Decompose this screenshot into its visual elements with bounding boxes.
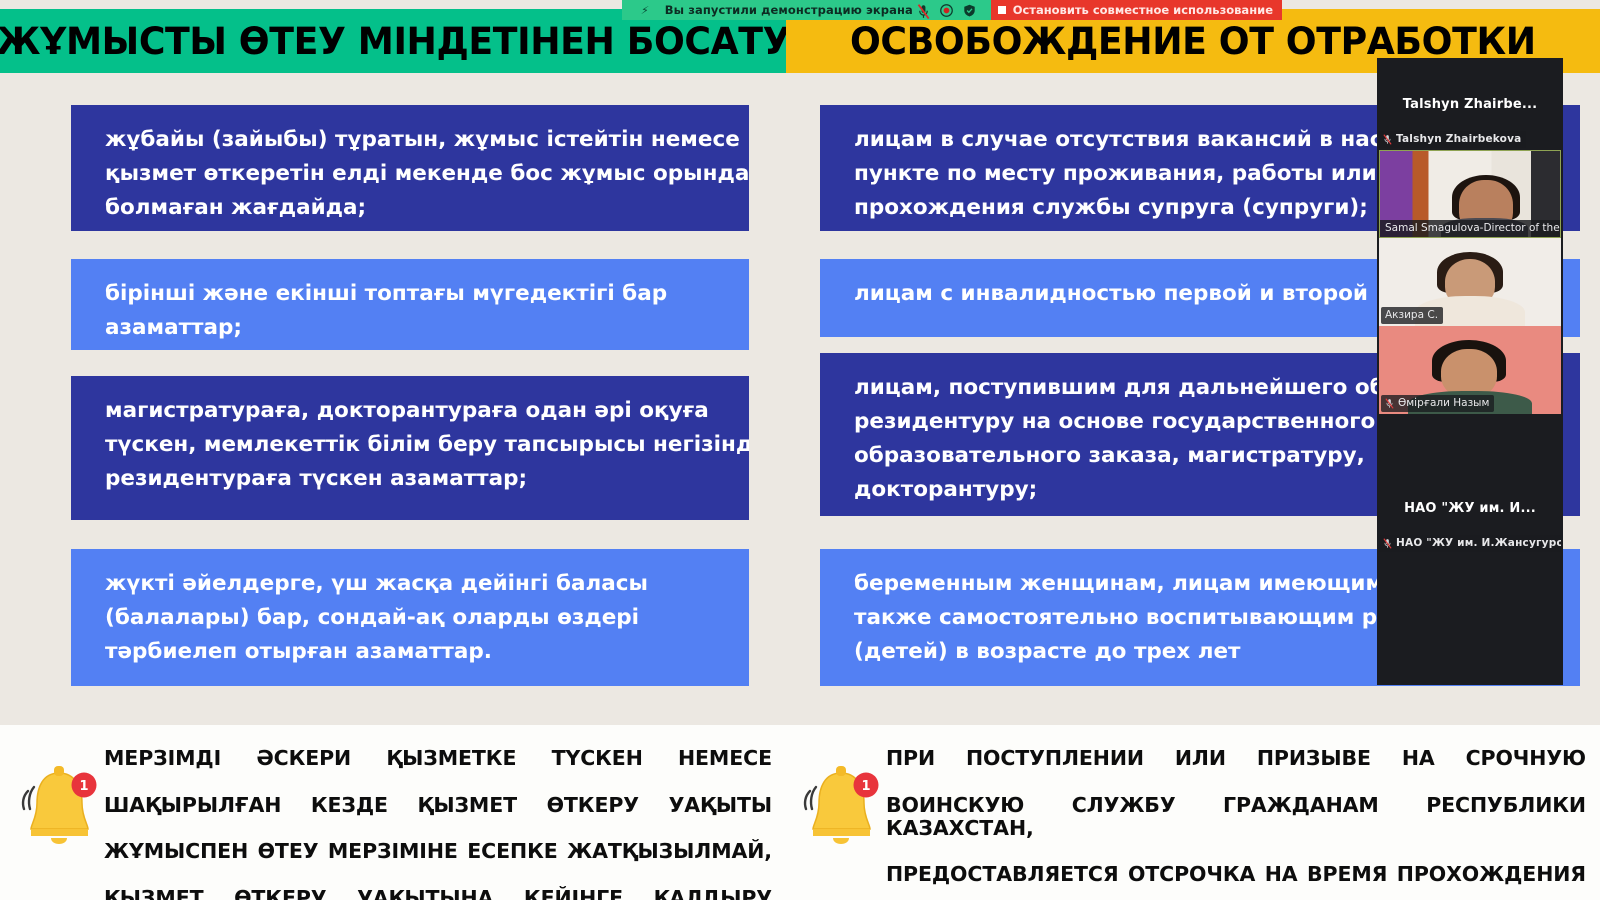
participant-tile-nao[interactable]: НАО "ЖУ им. И... НАО "ЖУ им. И.Жансугуро… (1377, 462, 1563, 554)
kazakh-card-3: магистратураға, докторантураға одан әрі … (71, 376, 749, 520)
participant-tile-video-samal[interactable]: Samal Smagulova-Director of the C... (1379, 150, 1561, 238)
participant-name: НАО "ЖУ им. И.Жансугурова" (1396, 537, 1561, 549)
stop-sharing-button[interactable]: Остановить совместное использование (991, 0, 1282, 20)
footer-note-kazakh-text: МЕРЗІМДІ ӘСКЕРИ ҚЫЗМЕТКЕ ТҮСКЕН НЕМЕСЕ Ш… (104, 747, 772, 900)
screenshare-toolbar[interactable]: ⚡ Вы запустили демонстрацию экрана (622, 0, 1282, 20)
card-line: магистратураға, докторантураға одан әрі … (105, 394, 721, 428)
card-line: жұбайы (зайыбы) тұратын, жұмыс істейтін … (105, 123, 721, 157)
active-speaker-name: Talshyn Zhairbe... (1403, 97, 1538, 112)
bell-badge-count: 1 (79, 779, 88, 794)
screenshare-status-bar: ⚡ Вы запустили демонстрацию экрана (622, 0, 991, 20)
mic-muted-icon[interactable] (917, 4, 930, 17)
note-line: МЕРЗІМДІ ӘСКЕРИ ҚЫЗМЕТКЕ ТҮСКЕН НЕМЕСЕ (104, 747, 772, 794)
kazakh-card-4: жүкті әйелдерге, үш жасқа дейінгі баласы… (71, 549, 749, 686)
card-line: азаматтар; (105, 311, 721, 345)
stop-square-icon (998, 6, 1006, 14)
participant-label: Өмірғали Назым (1381, 395, 1494, 412)
card-line: түскен, мемлекеттік білім беру тапсырысы… (105, 428, 721, 462)
bell-notification-icon: 1 (800, 759, 886, 855)
participant-display-name: НАО "ЖУ им. И... (1404, 501, 1536, 516)
participant-tile-video-omirgali[interactable]: Өмірғали Назым (1379, 326, 1561, 414)
card-line: қызмет өткеретін елді мекенде бос жұмыс … (105, 157, 721, 191)
participant-label: Talshyn Zhairbekova (1379, 131, 1526, 148)
bell-badge-count: 1 (861, 779, 870, 794)
screenshare-icon-group[interactable] (917, 4, 984, 17)
participant-tile-active-speaker[interactable]: Talshyn Zhairbe... Talshyn Zhairbekova (1377, 58, 1563, 150)
mic-muted-icon (1383, 538, 1392, 549)
card-line: жүкті әйелдерге, үш жасқа дейінгі баласы (105, 567, 721, 601)
panel-spacer (1377, 414, 1563, 462)
mic-muted-icon (1383, 134, 1392, 145)
kazakh-card-1: жұбайы (зайыбы) тұратын, жұмыс істейтін … (71, 105, 749, 231)
mic-muted-icon (1385, 398, 1394, 409)
card-line: бірінші және екінші топтағы мүгедектігі … (105, 277, 721, 311)
stop-sharing-label: Остановить совместное использование (1013, 3, 1273, 17)
screenshare-status-text: Вы запустили демонстрацию экрана (665, 3, 913, 17)
security-shield-icon[interactable] (963, 4, 976, 17)
participant-name: Samal Smagulova-Director of the C... (1380, 220, 1560, 237)
card-line: тәрбиелеп отырған азаматтар. (105, 635, 721, 669)
card-line: болмаған жағдайда; (105, 191, 721, 225)
footer-note-kazakh: 1 МЕРЗІМДІ ӘСКЕРИ ҚЫЗМЕТКЕ ТҮСКЕН НЕМЕСЕ… (18, 747, 786, 900)
footer-note-russian: 1 ПРИ ПОСТУПЛЕНИИ ИЛИ ПРИЗЫВЕ НА СРОЧНУЮ… (800, 747, 1590, 900)
card-line: резидентураға түскен азаматтар; (105, 462, 721, 496)
slide-header-kazakh-text: ЖҰМЫСТЫ ӨТЕУ МІНДЕТІНЕН БОСАТУ (0, 20, 786, 63)
card-line: (балалары) бар, сондай-ақ оларды өздері (105, 601, 721, 635)
note-line: ПРЕДОСТАВЛЯЕТСЯ ОТСРОЧКА НА ВРЕМЯ ПРОХОЖ… (886, 863, 1586, 900)
note-line: ПРИ ПОСТУПЛЕНИИ ИЛИ ПРИЗЫВЕ НА СРОЧНУЮ (886, 747, 1586, 794)
zoom-participant-panel[interactable]: Talshyn Zhairbe... Talshyn Zhairbekova S… (1377, 58, 1563, 685)
panel-spacer (1377, 554, 1563, 614)
note-line: ЖҰМЫСПЕН ӨТЕУ МЕРЗІМІНЕ ЕСЕПКЕ ЖАТҚЫЗЫЛМ… (104, 840, 772, 887)
note-line: ҚЫЗМЕТ ӨТКЕРУ УАҚЫТЫНА КЕЙІНГЕ ҚАЛДЫРУ Б… (104, 887, 772, 900)
slide-header-russian-text: ОСВОБОЖДЕНИЕ ОТ ОТРАБОТКИ (850, 20, 1536, 63)
participant-name: Talshyn Zhairbekova (1396, 133, 1521, 145)
participant-tile-video-akzira[interactable]: Акзира С. (1379, 238, 1561, 326)
participant-label: НАО "ЖУ им. И.Жансугурова" (1379, 535, 1561, 552)
footer-note-russian-text: ПРИ ПОСТУПЛЕНИИ ИЛИ ПРИЗЫВЕ НА СРОЧНУЮ В… (886, 747, 1586, 900)
zoom-screenshare-view: ЖҰМЫСТЫ ӨТЕУ МІНДЕТІНЕН БОСАТУ ОСВОБОЖДЕ… (0, 0, 1600, 900)
slide-body: жұбайы (зайыбы) тұратын, жұмыс істейтін … (0, 73, 1600, 720)
lightning-icon: ⚡ (640, 4, 650, 17)
slide-footer-band: 1 МЕРЗІМДІ ӘСКЕРИ ҚЫЗМЕТКЕ ТҮСКЕН НЕМЕСЕ… (0, 725, 1600, 900)
note-line: ВОИНСКУЮ СЛУЖБУ ГРАЖДАНАМ РЕСПУБЛИКИ КАЗ… (886, 794, 1586, 864)
participant-name: Өмірғали Назым (1398, 397, 1489, 409)
note-line: ШАҚЫРЫЛҒАН КЕЗДЕ ҚЫЗМЕТ ӨТКЕРУ УАҚЫТЫ (104, 794, 772, 841)
kazakh-card-2: бірінші және екінші топтағы мүгедектігі … (71, 259, 749, 350)
participant-name: Акзира С. (1385, 309, 1438, 321)
bell-notification-icon: 1 (18, 759, 104, 855)
participant-label: Акзира С. (1381, 307, 1443, 324)
participant-tile-sadykova[interactable]: Садыкова Мадина (1377, 614, 1563, 685)
record-icon[interactable] (940, 4, 953, 17)
